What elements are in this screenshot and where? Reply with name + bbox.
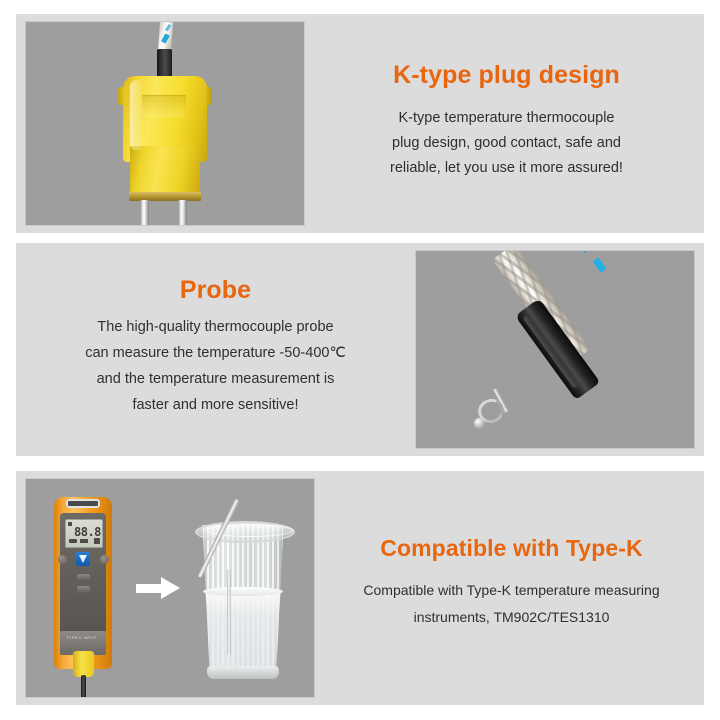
plug-emboss-mark: [142, 95, 186, 117]
feature-body-line: Compatible with Type-K temperature measu…: [363, 577, 659, 604]
feature-text-compatible-type-k: Compatible with Type-K Compatible with T…: [315, 471, 704, 705]
feature-text-probe: Probe The high-quality thermocouple prob…: [16, 243, 415, 456]
probe-tip-photo: [415, 250, 695, 449]
braided-cable: [158, 22, 173, 53]
plug-prong-left: [140, 200, 149, 226]
right-arrow-icon: [136, 577, 180, 599]
blue-thread-marker: [575, 250, 591, 253]
meter-button-hold: [77, 574, 90, 581]
feature-heading: K-type plug design: [393, 61, 620, 90]
feature-panel-probe: Probe The high-quality thermocouple prob…: [16, 243, 704, 456]
socket-label: TYPE-K INPUT: [66, 635, 97, 640]
feature-body-line: plug design, good contact, safe and: [390, 131, 623, 156]
feature-panel-compatible-type-k: 88.8 TYPE-K INPUT: [16, 471, 704, 705]
connected-yellow-plug: [73, 651, 94, 677]
feature-body-line: instruments, TM902C/TES1310: [363, 604, 659, 631]
lcd-battery-icon: [69, 539, 77, 543]
water-glass: [191, 525, 295, 683]
thermocouple-bead-tip: [474, 418, 485, 429]
probe-in-liquid: [227, 569, 231, 655]
lcd-unit-icon: [94, 538, 100, 544]
feature-body-line: faster and more sensitive!: [85, 392, 346, 418]
meter-button-unit: [77, 586, 90, 593]
meter-and-glass-photo: 88.8 TYPE-K INPUT: [25, 478, 315, 698]
probe-cord: [81, 675, 86, 698]
feature-body: Compatible with Type-K temperature measu…: [363, 577, 659, 631]
feature-body-line: K-type temperature thermocouple: [390, 106, 623, 131]
feature-body: The high-quality thermocouple probe can …: [85, 314, 346, 418]
meter-power-button: [76, 552, 90, 566]
liquid-surface: [203, 587, 283, 596]
plug-body-lower: [130, 146, 200, 196]
lcd-mode-icon: [80, 539, 88, 543]
feature-panel-k-type-plug: K-type plug design K-type temperature th…: [16, 14, 704, 233]
lcd-reading: 88.8: [74, 526, 101, 538]
meter-button-right: [100, 555, 109, 564]
feature-body-line: can measure the temperature -50-400℃: [85, 340, 346, 366]
plug-prong-right: [178, 200, 187, 226]
plug-highlight: [130, 80, 144, 150]
feature-body: K-type temperature thermocouple plug des…: [390, 106, 623, 181]
lcd-indicator-icon: [68, 522, 72, 526]
product-infographic: K-type plug design K-type temperature th…: [0, 0, 720, 720]
meter-button-left: [58, 555, 67, 564]
arrow-head: [161, 577, 180, 599]
feature-heading: Compatible with Type-K: [380, 535, 642, 562]
meter-hanger-slot: [66, 499, 100, 508]
feature-heading: Probe: [180, 276, 251, 305]
glass-liquid: [203, 591, 283, 675]
feature-text-k-type-plug: K-type plug design K-type temperature th…: [305, 14, 704, 233]
glass-base: [207, 666, 279, 679]
arrow-shaft: [136, 584, 164, 593]
feature-body-line: reliable, let you use it more assured!: [390, 156, 623, 181]
glass-rim: [195, 521, 295, 543]
blue-thread-marker: [593, 257, 607, 272]
feature-body-line: and the temperature measurement is: [85, 366, 346, 392]
k-type-plug-photo: [25, 21, 305, 226]
meter-lcd-display: 88.8: [65, 519, 103, 548]
feature-body-line: The high-quality thermocouple probe: [85, 314, 346, 340]
